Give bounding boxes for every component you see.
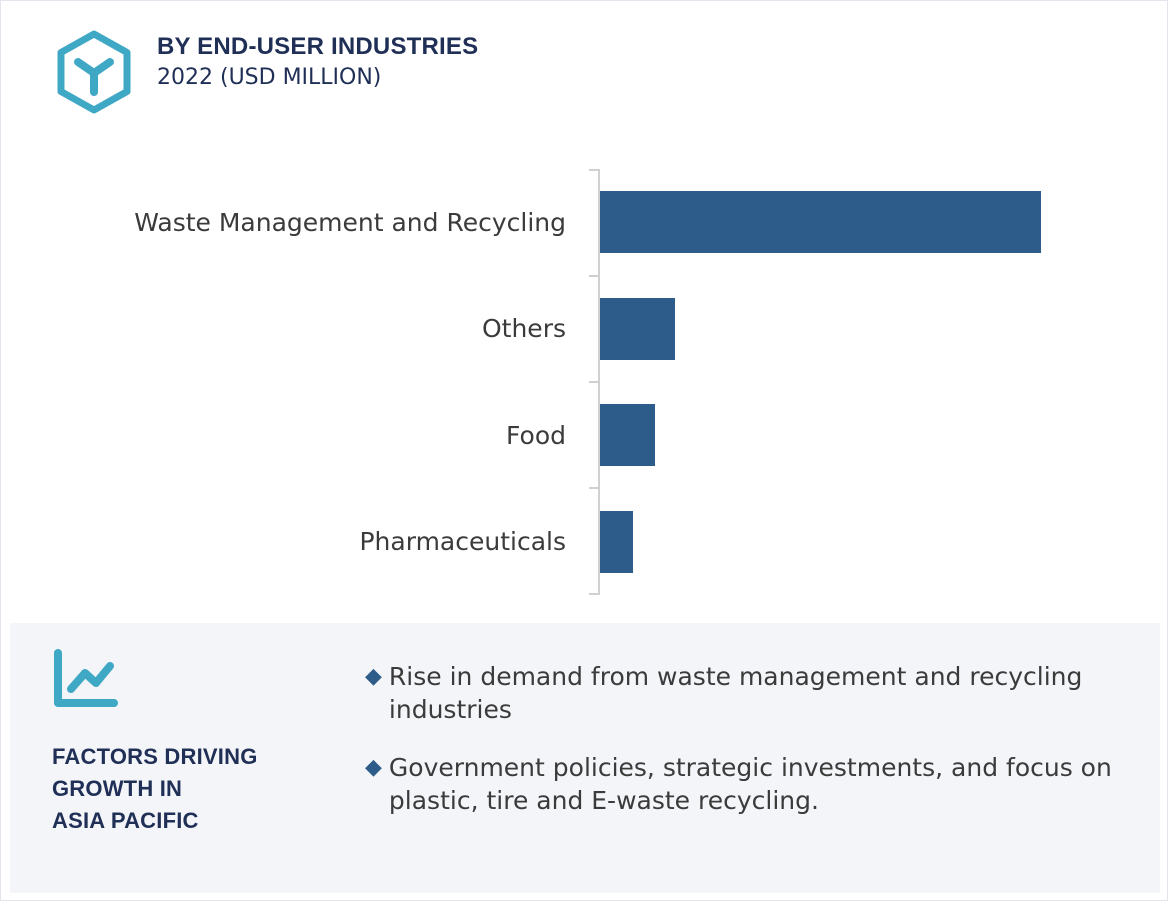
plot-area — [598, 169, 1138, 595]
category-row: Food — [1, 382, 576, 489]
bars-group — [600, 169, 1138, 595]
axis-tick — [589, 381, 598, 383]
bar-row — [600, 276, 1138, 383]
list-item-text: Rise in demand from waste management and… — [389, 661, 1125, 726]
category-axis-labels: Waste Management and Recycling Others Fo… — [1, 169, 576, 595]
category-label: Waste Management and Recycling — [134, 209, 576, 237]
line-chart-icon — [52, 649, 122, 711]
page-title: BY END-USER INDUSTRIES — [157, 34, 478, 61]
footer-heading-line: FACTORS DRIVING — [52, 741, 352, 773]
bar-waste-management-and-recycling[interactable] — [600, 191, 1041, 253]
hexagon-y-icon — [51, 29, 137, 115]
axis-tick — [589, 487, 598, 489]
header-text-block: BY END-USER INDUSTRIES 2022 (USD MILLION… — [157, 34, 478, 91]
list-item: ◆ Rise in demand from waste management a… — [365, 661, 1125, 726]
bar-row — [600, 169, 1138, 276]
category-label: Pharmaceuticals — [359, 528, 576, 556]
factors-list: ◆ Rise in demand from waste management a… — [365, 661, 1125, 843]
category-label: Food — [506, 422, 576, 450]
list-item: ◆ Government policies, strategic investm… — [365, 752, 1125, 817]
bar-chart: Waste Management and Recycling Others Fo… — [1, 151, 1168, 611]
category-label: Others — [482, 315, 576, 343]
bar-row — [600, 382, 1138, 489]
bar-pharmaceuticals[interactable] — [600, 511, 633, 573]
header: BY END-USER INDUSTRIES 2022 (USD MILLION… — [1, 1, 1167, 131]
bar-others[interactable] — [600, 298, 675, 360]
category-row: Waste Management and Recycling — [1, 169, 576, 276]
diamond-bullet-icon: ◆ — [365, 662, 382, 690]
category-row: Pharmaceuticals — [1, 489, 576, 596]
axis-tick — [589, 275, 598, 277]
footer-heading-line: ASIA PACIFIC — [52, 805, 352, 837]
footer-panel: FACTORS DRIVING GROWTH IN ASIA PACIFIC ◆… — [10, 623, 1160, 893]
axis-end-cap-bottom — [589, 593, 598, 595]
category-row: Others — [1, 276, 576, 383]
bar-row — [600, 489, 1138, 596]
footer-heading-line: GROWTH IN — [52, 773, 352, 805]
page-subtitle: 2022 (USD MILLION) — [157, 64, 478, 92]
diamond-bullet-icon: ◆ — [365, 753, 382, 781]
axis-end-cap-top — [589, 169, 598, 171]
list-item-text: Government policies, strategic investmen… — [389, 752, 1125, 817]
bar-food[interactable] — [600, 404, 655, 466]
footer-left-block: FACTORS DRIVING GROWTH IN ASIA PACIFIC — [52, 649, 352, 837]
footer-heading: FACTORS DRIVING GROWTH IN ASIA PACIFIC — [52, 741, 352, 837]
infographic-card: BY END-USER INDUSTRIES 2022 (USD MILLION… — [0, 0, 1168, 901]
